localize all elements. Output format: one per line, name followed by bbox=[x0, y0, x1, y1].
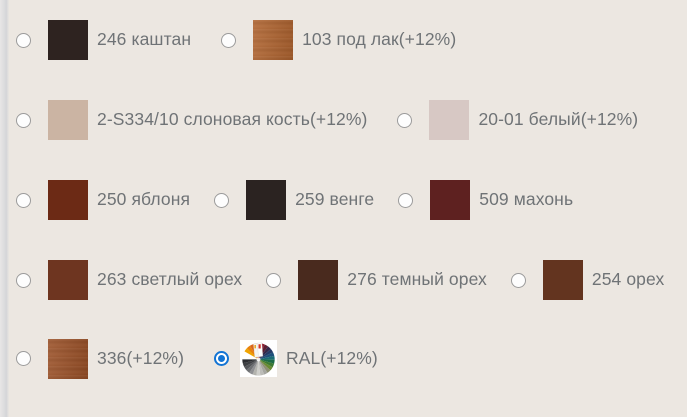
color-option[interactable]: 20-01 белый(+12%) bbox=[397, 100, 638, 140]
radio-button[interactable] bbox=[266, 273, 281, 288]
radio-button[interactable] bbox=[397, 113, 412, 128]
color-option-label: 276 темный орех bbox=[347, 271, 487, 289]
option-row: 2-S334/10 слоновая кость(+12%)20-01 белы… bbox=[9, 80, 687, 160]
option-row: 250 яблоня259 венге509 махонь bbox=[9, 160, 687, 240]
color-swatch[interactable] bbox=[430, 180, 470, 220]
color-option[interactable]: 103 под лак(+12%) bbox=[221, 20, 456, 60]
color-option-label: 246 каштан bbox=[97, 31, 191, 49]
radio-button-selected[interactable] bbox=[214, 351, 229, 366]
color-swatch[interactable] bbox=[48, 180, 88, 220]
radio-button[interactable] bbox=[16, 351, 31, 366]
option-row: 263 светлый орех276 темный орех254 орех bbox=[9, 240, 687, 320]
color-swatch[interactable] bbox=[48, 339, 88, 379]
color-option-label: 254 орех bbox=[592, 271, 664, 289]
color-option-label: 250 яблоня bbox=[97, 191, 190, 209]
color-swatch[interactable] bbox=[298, 260, 338, 300]
radio-button[interactable] bbox=[16, 193, 31, 208]
color-swatch[interactable] bbox=[48, 260, 88, 300]
color-option[interactable]: 509 махонь bbox=[398, 180, 573, 220]
radio-button[interactable] bbox=[16, 113, 31, 128]
color-option-label: 20-01 белый(+12%) bbox=[478, 111, 638, 129]
left-scroll-gutter bbox=[0, 0, 9, 417]
option-row: 336(+12%)RAL(+12%) bbox=[9, 320, 687, 397]
color-swatch[interactable] bbox=[543, 260, 583, 300]
color-option-label: 336(+12%) bbox=[97, 350, 184, 368]
color-option[interactable]: 2-S334/10 слоновая кость(+12%) bbox=[16, 100, 367, 140]
color-option-label: 2-S334/10 слоновая кость(+12%) bbox=[97, 111, 367, 129]
color-option-label: 259 венге bbox=[295, 191, 374, 209]
color-options-panel: 246 каштан103 под лак(+12%)2-S334/10 сло… bbox=[9, 0, 687, 417]
color-option-label: 103 под лак(+12%) bbox=[302, 31, 456, 49]
color-option[interactable]: 254 орех bbox=[511, 260, 664, 300]
color-swatch[interactable] bbox=[253, 20, 293, 60]
ral-fandeck-icon[interactable] bbox=[240, 340, 277, 377]
radio-button[interactable] bbox=[214, 193, 229, 208]
color-option[interactable]: 263 светлый орех bbox=[16, 260, 242, 300]
color-option-label: 509 махонь bbox=[479, 191, 573, 209]
radio-button[interactable] bbox=[16, 273, 31, 288]
radio-button[interactable] bbox=[16, 33, 31, 48]
color-swatch[interactable] bbox=[48, 20, 88, 60]
color-option[interactable]: RAL(+12%) bbox=[214, 340, 378, 377]
option-row: 246 каштан103 под лак(+12%) bbox=[9, 0, 687, 80]
color-option[interactable]: 246 каштан bbox=[16, 20, 191, 60]
color-option[interactable]: 250 яблоня bbox=[16, 180, 190, 220]
radio-button[interactable] bbox=[398, 193, 413, 208]
color-swatch[interactable] bbox=[246, 180, 286, 220]
radio-button[interactable] bbox=[221, 33, 236, 48]
color-option-label: RAL(+12%) bbox=[286, 350, 378, 368]
radio-button[interactable] bbox=[511, 273, 526, 288]
color-swatch[interactable] bbox=[429, 100, 469, 140]
color-option[interactable]: 276 темный орех bbox=[266, 260, 487, 300]
color-option-label: 263 светлый орех bbox=[97, 271, 242, 289]
color-option[interactable]: 336(+12%) bbox=[16, 339, 184, 379]
color-swatch[interactable] bbox=[48, 100, 88, 140]
color-option[interactable]: 259 венге bbox=[214, 180, 374, 220]
